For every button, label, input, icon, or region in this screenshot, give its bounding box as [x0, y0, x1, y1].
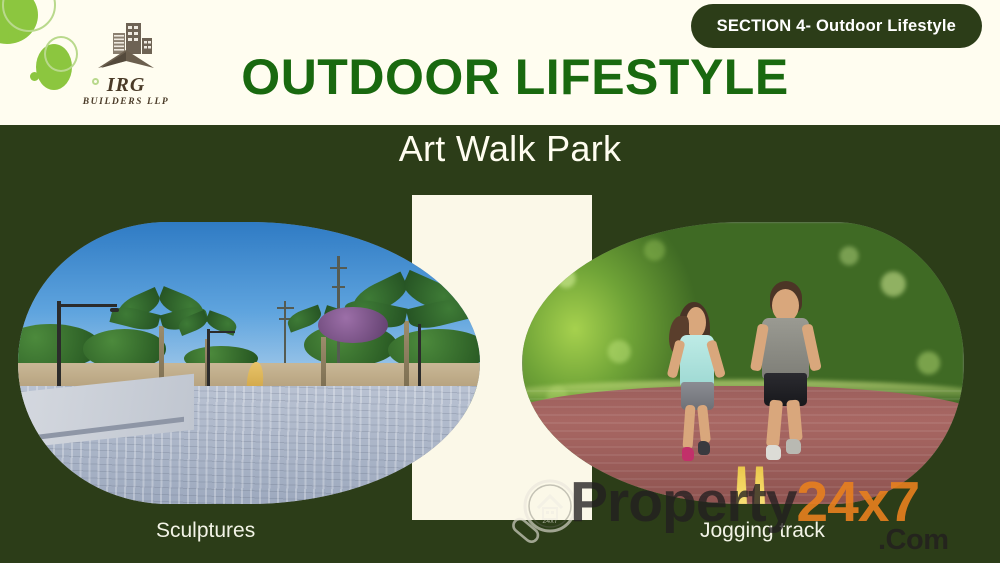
page-title: OUTDOOR LIFESTYLE: [0, 52, 1000, 102]
caption-jogging-track: Jogging track: [700, 519, 825, 543]
slide-header: IRG BUILDERS LLP SECTION 4- Outdoor Life…: [0, 0, 1000, 125]
section-badge: SECTION 4- Outdoor Lifestyle: [691, 4, 982, 48]
page-subtitle: Art Walk Park: [0, 128, 1000, 170]
caption-sculptures: Sculptures: [156, 519, 255, 543]
runner-male: [752, 281, 836, 476]
slide-root: IRG BUILDERS LLP SECTION 4- Outdoor Life…: [0, 0, 1000, 563]
gallery-image-jogging-track: [522, 222, 964, 504]
runner-female: [668, 298, 743, 473]
gallery-image-sculptures: [18, 222, 480, 504]
watermark-domain: .Com: [878, 524, 949, 557]
